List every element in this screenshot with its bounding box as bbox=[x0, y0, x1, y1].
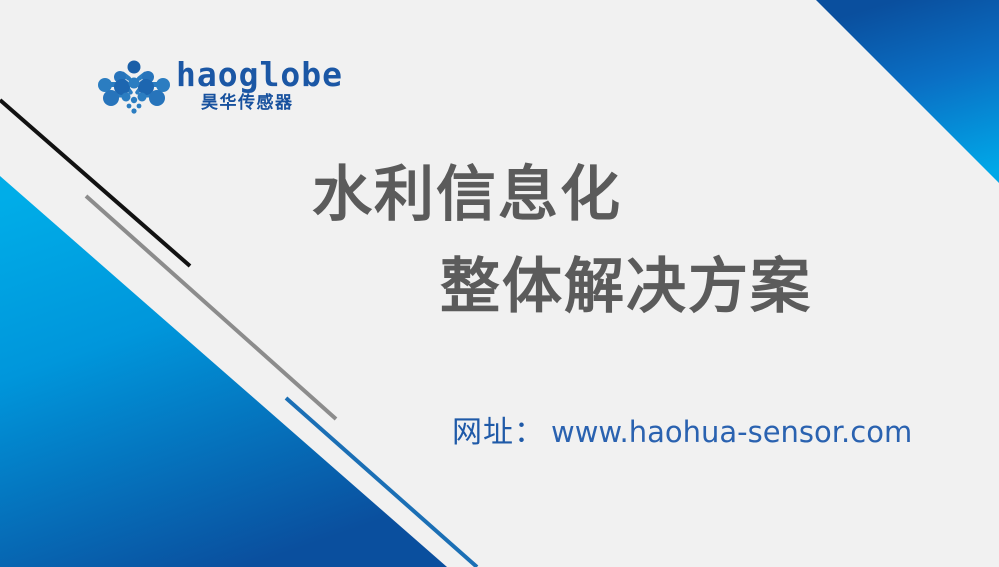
logo-subtext-chinese: 昊华传感器 bbox=[201, 95, 294, 112]
website-line: 网址：www.haohua-sensor.com bbox=[452, 418, 912, 448]
left-triangle bbox=[0, 176, 447, 567]
presentation-title-slide: haoglobe 昊华传感器 水利信息化 整体解决方案 网址：www.haohu… bbox=[0, 0, 999, 567]
company-logo: haoglobe 昊华传感器 bbox=[96, 58, 326, 120]
logo-wordmark: haoglobe bbox=[176, 58, 343, 91]
website-label: 网址： bbox=[452, 415, 545, 450]
website-url[interactable]: www.haohua-sensor.com bbox=[551, 415, 912, 449]
haoglobe-network-logo-icon bbox=[96, 60, 172, 116]
top-right-triangle bbox=[816, 0, 999, 183]
